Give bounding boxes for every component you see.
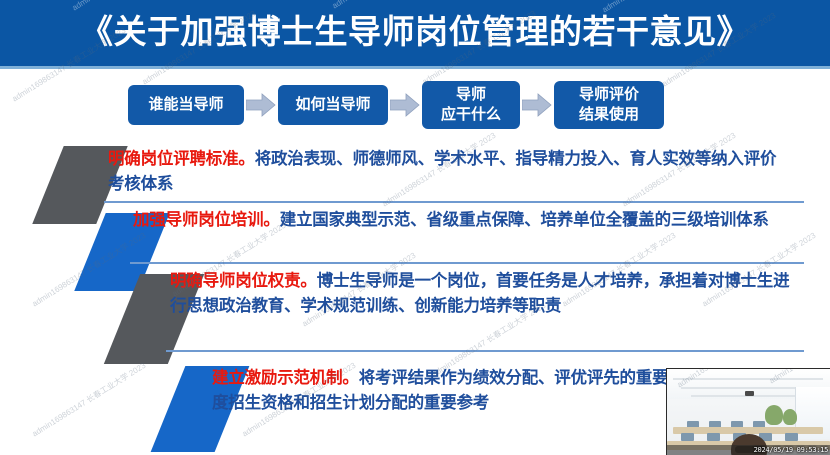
chair (681, 433, 694, 441)
paragraph-2-body: 建立国家典型示范、省级重点保障、培养单位全覆盖的三级培训体系 (280, 211, 769, 229)
flow-chart: 谁能当导师 如何当导师 导师 应干什么 导师评价 结果使用 (128, 79, 688, 131)
flow-box-2-line-1: 如何当导师 (295, 95, 370, 115)
flow-box-1-line-1: 谁能当导师 (148, 95, 223, 115)
watermark: admin169863147 长春工业大学 2023 (30, 360, 148, 439)
webcam-scene: admin169863147 长春工业大学 2023 admin16986314… (667, 369, 830, 455)
plant (765, 405, 783, 425)
flow-box-3[interactable]: 导师 应干什么 (422, 81, 520, 129)
flow-box-4-line-1: 导师评价 (579, 85, 639, 105)
flow-box-3-line-2: 应干什么 (441, 105, 501, 125)
page-title: 《关于加强博士生导师岗位管理的若干意见》 (0, 8, 830, 56)
right-arrow-icon (520, 89, 554, 121)
paragraph-2-lead: 加强导师岗位培训。 (133, 211, 280, 229)
paragraph-4-lead: 建立激励示范机制。 (212, 369, 359, 387)
flow-box-1[interactable]: 谁能当导师 (128, 85, 244, 125)
webcam-timestamp: 2024/05/19 09:53:15 (754, 446, 828, 454)
right-arrow-icon (244, 89, 278, 121)
paragraph-1: 明确岗位评聘标准。将政治表现、师德师风、学术水平、指导精力投入、育人实效等纳入评… (108, 147, 788, 197)
plant (783, 409, 797, 425)
paragraph-3-lead: 明确导师岗位权责。 (170, 272, 317, 290)
chair (785, 433, 798, 441)
projector-icon (745, 391, 754, 396)
ceiling-beam (673, 378, 823, 380)
ceiling-beam (681, 387, 813, 389)
divider-1 (104, 201, 804, 203)
presentation-slide: admin169863147 长春工业大学 2023 admin16986314… (0, 0, 830, 455)
paragraph-1-lead: 明确岗位评聘标准。 (108, 150, 255, 168)
paragraph-3: 明确导师岗位权责。博士生导师是一个岗位，首要任务是人才培养，承担着对博士生进行思… (170, 269, 795, 319)
header-underline (0, 66, 830, 69)
flow-box-4[interactable]: 导师评价 结果使用 (554, 81, 664, 129)
divider-3 (166, 350, 804, 352)
flow-box-2[interactable]: 如何当导师 (278, 85, 388, 125)
flow-box-4-line-2: 结果使用 (579, 105, 639, 125)
chair (707, 433, 720, 441)
divider-2 (130, 262, 804, 264)
right-arrow-icon (388, 89, 422, 121)
flow-box-3-line-1: 导师 (456, 85, 486, 105)
desk-row (673, 427, 823, 434)
webcam-video-overlay[interactable]: admin169863147 长春工业大学 2023 admin16986314… (666, 368, 830, 455)
paragraph-2: 加强导师岗位培训。建立国家典型示范、省级重点保障、培养单位全覆盖的三级培训体系 (133, 208, 788, 233)
